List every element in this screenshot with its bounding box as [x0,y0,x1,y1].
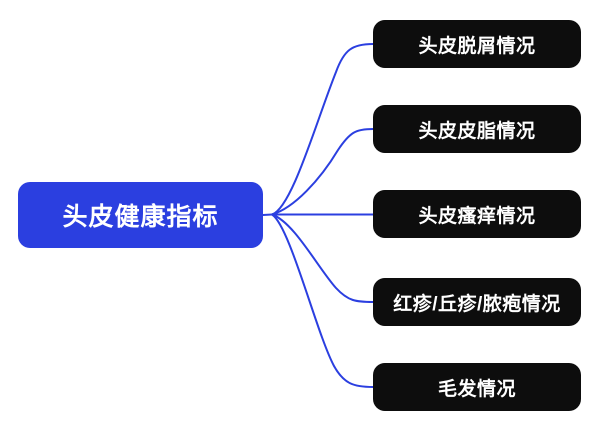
connector-to-branch-4 [272,215,373,303]
root-node[interactable]: 头皮健康指标 [18,182,263,248]
branch-node-1[interactable]: 头皮脱屑情况 [373,20,581,68]
branch-node-2[interactable]: 头皮皮脂情况 [373,105,581,153]
mind-map-canvas: 头皮健康指标 头皮脱屑情况 头皮皮脂情况 头皮瘙痒情况 红疹/丘疹/脓疱情况 毛… [0,0,609,433]
connector-stem [263,215,272,216]
connector-to-branch-1 [272,44,373,215]
branch-node-5[interactable]: 毛发情况 [373,363,581,411]
branch-node-4-label: 红疹/丘疹/脓疱情况 [393,289,561,316]
branch-node-2-label: 头皮皮脂情况 [418,116,535,143]
connector-to-branch-2 [272,129,373,215]
branch-node-5-label: 毛发情况 [438,374,516,401]
root-node-label: 头皮健康指标 [62,197,218,233]
connector-to-branch-5 [272,215,373,388]
branch-node-3[interactable]: 头皮瘙痒情况 [373,190,581,238]
branch-node-4[interactable]: 红疹/丘疹/脓疱情况 [373,278,581,326]
branch-node-3-label: 头皮瘙痒情况 [418,201,535,228]
branch-node-1-label: 头皮脱屑情况 [418,31,535,58]
